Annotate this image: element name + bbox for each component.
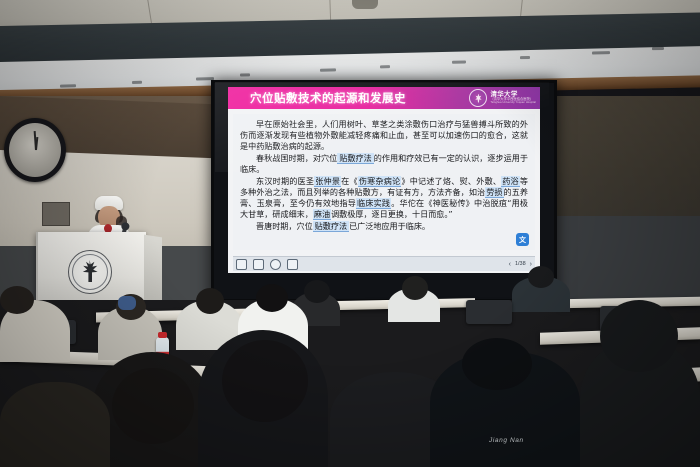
slide-body: 早在原始社会里，人们用树叶、草茎之类涂敷伤口治疗与猛兽搏斗所致的外伤而逐渐发现有… xyxy=(233,114,535,250)
audience-head xyxy=(528,266,554,288)
projection-screen: 穴位贴敷技术的起源和发展史 清华大学 （清华大学中西医结合医院） Tsinghu… xyxy=(211,80,557,302)
hospital-emblem-icon xyxy=(68,250,112,294)
save-icon[interactable] xyxy=(253,259,264,270)
slide-toolbar[interactable]: ‹ 1/38 › xyxy=(233,256,535,271)
audience-head xyxy=(196,288,224,314)
present-icon[interactable] xyxy=(287,259,298,270)
bottle-cap xyxy=(158,332,167,338)
emblem-ring xyxy=(72,254,108,290)
university-logo: 清华大学 （清华大学中西医结合医院） Tsinghua University Y… xyxy=(469,89,536,107)
audience-head xyxy=(256,284,288,312)
prev-page-button[interactable]: ‹ xyxy=(509,261,511,268)
wall-outlet-box xyxy=(42,202,70,226)
clock-hour-hand xyxy=(35,137,38,150)
app-badge-icon: 文 xyxy=(516,233,529,246)
lecture-hall-photo: 穴位贴敷技术的起源和发展史 清华大学 （清华大学中西医结合医院） Tsinghu… xyxy=(0,0,700,467)
note-icon[interactable] xyxy=(236,259,247,270)
wall-mark xyxy=(652,47,664,50)
wall-mark xyxy=(520,56,530,59)
slide-paragraph: 春秋战国时期，对穴位贴敷疗法的作用和疗效已有一定的认识，逐步运用于临床。 xyxy=(240,153,528,175)
logo-institution-en: Tsinghua University Yuquan Hospital xyxy=(490,102,536,105)
presentation-slide: 穴位贴敷技术的起源和发展史 清华大学 （清华大学中西医结合医院） Tsinghu… xyxy=(228,87,540,273)
page-indicator: 1/38 xyxy=(515,261,526,267)
audience-head xyxy=(304,280,330,303)
wall-mark xyxy=(380,65,390,68)
slide-paragraph: 早在原始社会里，人们用树叶、草茎之类涂敷伤口治疗与猛兽搏斗所致的外伤而逐渐发现有… xyxy=(240,119,528,152)
wall-clock xyxy=(4,118,66,182)
wall-mark xyxy=(592,51,610,54)
audience-head xyxy=(112,368,194,444)
record-icon[interactable] xyxy=(270,259,281,270)
slide-title: 穴位贴敷技术的起源和发展史 xyxy=(250,90,406,106)
slide-paragraph: 东汉时期的医圣张仲景在《伤寒杂病论》中记述了烙、熨、外敷、药浴等多种外治之法，而… xyxy=(240,176,528,220)
jacket-brand-text: Jiang Nan xyxy=(489,437,524,444)
wall-mark xyxy=(132,81,142,84)
next-page-button[interactable]: › xyxy=(530,261,532,268)
wall-mark xyxy=(452,60,466,63)
wall-mark xyxy=(60,84,76,87)
tsinghua-seal-icon xyxy=(469,89,487,107)
right-wall xyxy=(548,96,700,311)
wall-mark xyxy=(240,73,250,76)
slide-title-banner: 穴位贴敷技术的起源和发展史 清华大学 （清华大学中西医结合医院） Tsinghu… xyxy=(228,87,540,109)
wall-mark xyxy=(320,68,336,71)
ceiling-light-fixture xyxy=(352,0,378,9)
audience-person xyxy=(0,382,110,467)
audience-head xyxy=(462,338,532,390)
audience-head xyxy=(0,286,34,314)
audience-head xyxy=(402,276,428,300)
slide-paragraph: 晋唐时期，穴位贴敷疗法已广泛地应用于临床。 xyxy=(240,221,528,232)
chair-back xyxy=(466,300,512,324)
audience-head xyxy=(222,340,308,422)
audience-head xyxy=(600,300,678,372)
hair-scrunchie xyxy=(118,296,136,310)
